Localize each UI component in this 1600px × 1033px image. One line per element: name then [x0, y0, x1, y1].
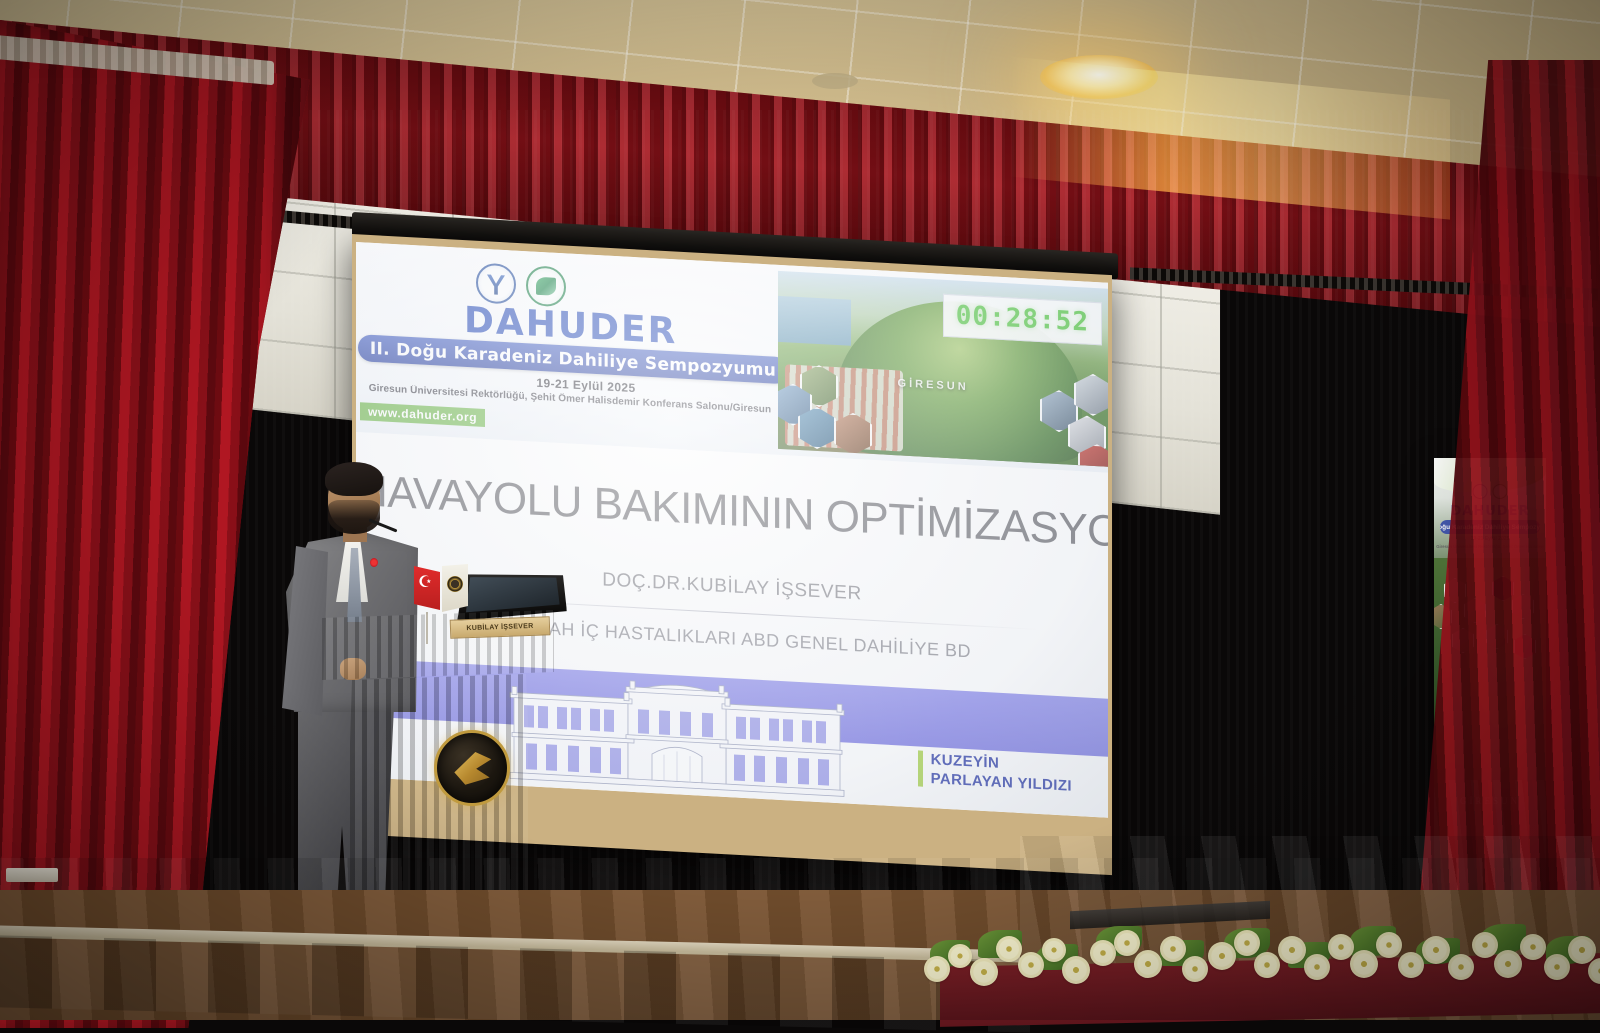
flower-bloom [1234, 930, 1260, 956]
podium-nameplate-text: KUBİLAY İŞSEVER [466, 623, 533, 632]
flower-bloom [1328, 934, 1354, 960]
flower-bloom [1588, 958, 1600, 984]
podium-nameplate: KUBİLAY İŞSEVER [450, 616, 551, 638]
speaker-beard [328, 500, 380, 534]
flower-bloom [1472, 932, 1498, 958]
flower-bloom [1134, 950, 1162, 978]
giresun-university-emblem-icon [434, 730, 510, 806]
flower-bloom [1208, 942, 1236, 970]
flower-bloom [1494, 950, 1522, 978]
flower-bloom [1398, 952, 1424, 978]
flower-bloom [1448, 954, 1474, 980]
dahuder-logo-icon [476, 262, 516, 304]
flower-bloom [948, 944, 972, 968]
countdown-timer-value: 00:28:52 [956, 300, 1089, 337]
flower-bloom [996, 936, 1022, 962]
slogan-accent-bar [918, 750, 923, 786]
flower-bloom [1544, 954, 1570, 980]
ceiling-light-icon [1040, 55, 1158, 99]
slide-title: HAVAYOLU BAKIMININ OPTİMİZASYONU [356, 466, 1108, 557]
slogan-block: KUZEYİN PARLAYAN YILDIZI [918, 750, 1072, 796]
university-flag-icon [442, 564, 468, 612]
flower-bloom [1376, 932, 1402, 958]
flower-bloom [1114, 930, 1140, 956]
flower-bloom [1182, 956, 1208, 982]
flower-bloom [1062, 956, 1090, 984]
flower-bloom [1520, 934, 1546, 960]
sea-area [778, 296, 851, 346]
floor-object [6, 868, 58, 882]
countdown-timer: 00:28:52 [943, 294, 1102, 346]
flower-bloom [1278, 936, 1306, 964]
flower-bloom [1090, 940, 1116, 966]
slogan-text: KUZEYİN PARLAYAN YILDIZI [931, 751, 1072, 796]
flower-bloom [1254, 952, 1280, 978]
speaker-hair [325, 462, 383, 496]
flower-bloom [970, 958, 998, 986]
university-building-illustration [502, 672, 852, 803]
ceiling-speaker-icon [812, 73, 858, 89]
flower-bloom [924, 956, 950, 982]
dahuder-website-link[interactable]: www.dahuder.org [360, 402, 485, 427]
flower-bloom [1042, 938, 1066, 962]
conference-hall-scene: DAHUDER II. Doğu Karadeniz Dahiliye Semp… [0, 0, 1600, 1020]
flower-arrangement [920, 900, 1600, 1020]
lapel-pin-icon [370, 558, 378, 567]
flower-bloom [1160, 936, 1186, 962]
flower-bloom [1568, 936, 1596, 964]
flower-bloom [1018, 952, 1044, 978]
giresun-university-logo-icon [526, 265, 566, 307]
flower-bloom [1422, 936, 1450, 964]
flower-bloom [1350, 950, 1378, 978]
flower-bloom [1304, 954, 1330, 980]
